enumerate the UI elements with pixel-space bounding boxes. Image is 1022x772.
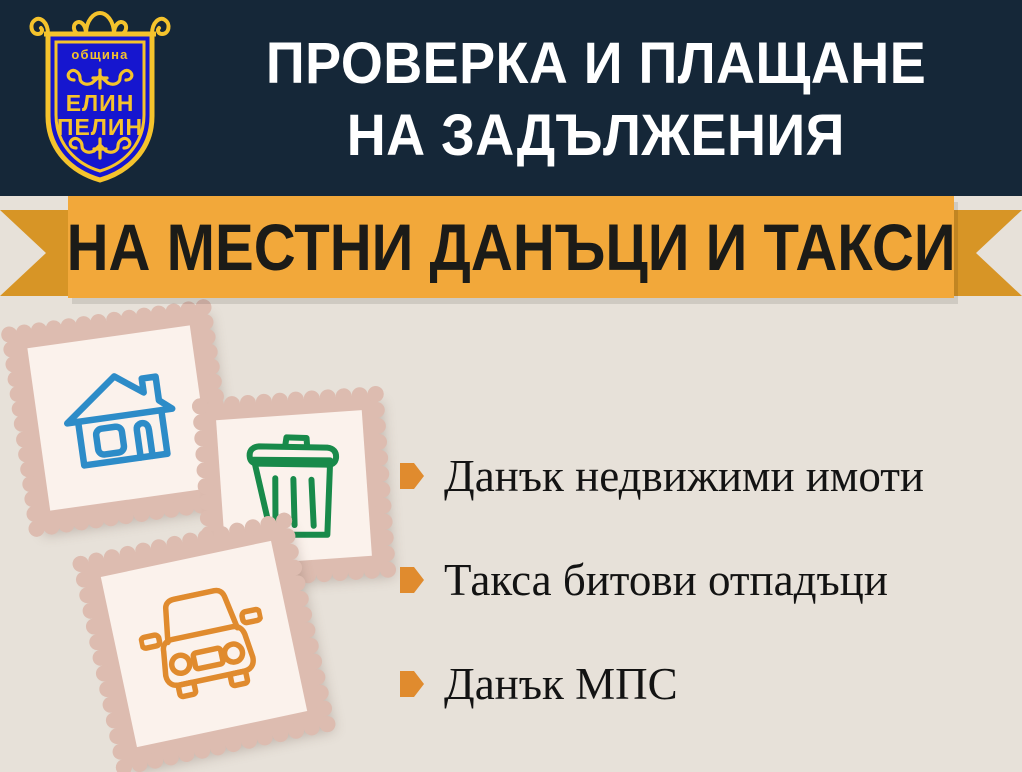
bullet-arrow-icon (400, 567, 424, 593)
logo-text-elin: ЕЛИН (66, 90, 135, 116)
list-item[interactable]: Данък недвижими имоти (400, 424, 1012, 528)
car-front-icon (131, 579, 276, 709)
tax-types-list: Данък недвижими имоти Такса битови отпад… (400, 424, 1012, 736)
house-icon (54, 356, 186, 479)
list-item[interactable]: Данък МПС (400, 632, 1012, 736)
logo-text-pelin: ПЕЛИН (57, 114, 143, 140)
bullet-arrow-icon (400, 463, 424, 489)
ribbon-panel: НА МЕСТНИ ДАНЪЦИ И ТАКСИ (68, 196, 954, 298)
list-item-label: Такса битови отпадъци (444, 555, 888, 605)
logo-text-obshtina: община (71, 47, 128, 62)
stamp-card-house (9, 307, 230, 528)
list-item[interactable]: Такса битови отпадъци (400, 528, 1012, 632)
stamp-paper-house (27, 325, 212, 510)
poster-root: община ЕЛИН ПЕЛИН ПРОВЕРКА И ПЛАЩАНЕ НА … (0, 0, 1022, 772)
header-bar: община ЕЛИН ПЕЛИН ПРОВЕРКА И ПЛАЩАНЕ НА … (0, 0, 1022, 196)
bullet-arrow-icon (400, 671, 424, 697)
title-line-1: ПРОВЕРКА И ПЛАЩАНЕ (266, 28, 926, 100)
municipality-logo: община ЕЛИН ПЕЛИН (24, 8, 176, 188)
ribbon-label: НА МЕСТНИ ДАНЪЦИ И ТАКСИ (66, 214, 955, 280)
page-title: ПРОВЕРКА И ПЛАЩАНЕ НА ЗАДЪЛЖЕНИЯ (186, 14, 1006, 186)
stamp-paper-car (101, 541, 307, 747)
ribbon-banner: НА МЕСТНИ ДАНЪЦИ И ТАКСИ (0, 196, 1022, 308)
stamp-card-car (81, 521, 328, 768)
list-item-label: Данък МПС (444, 659, 678, 709)
list-item-label: Данък недвижими имоти (444, 451, 924, 501)
title-line-2: НА ЗАДЪЛЖЕНИЯ (347, 100, 845, 172)
coat-of-arms-shield-icon: община ЕЛИН ПЕЛИН (24, 8, 176, 188)
